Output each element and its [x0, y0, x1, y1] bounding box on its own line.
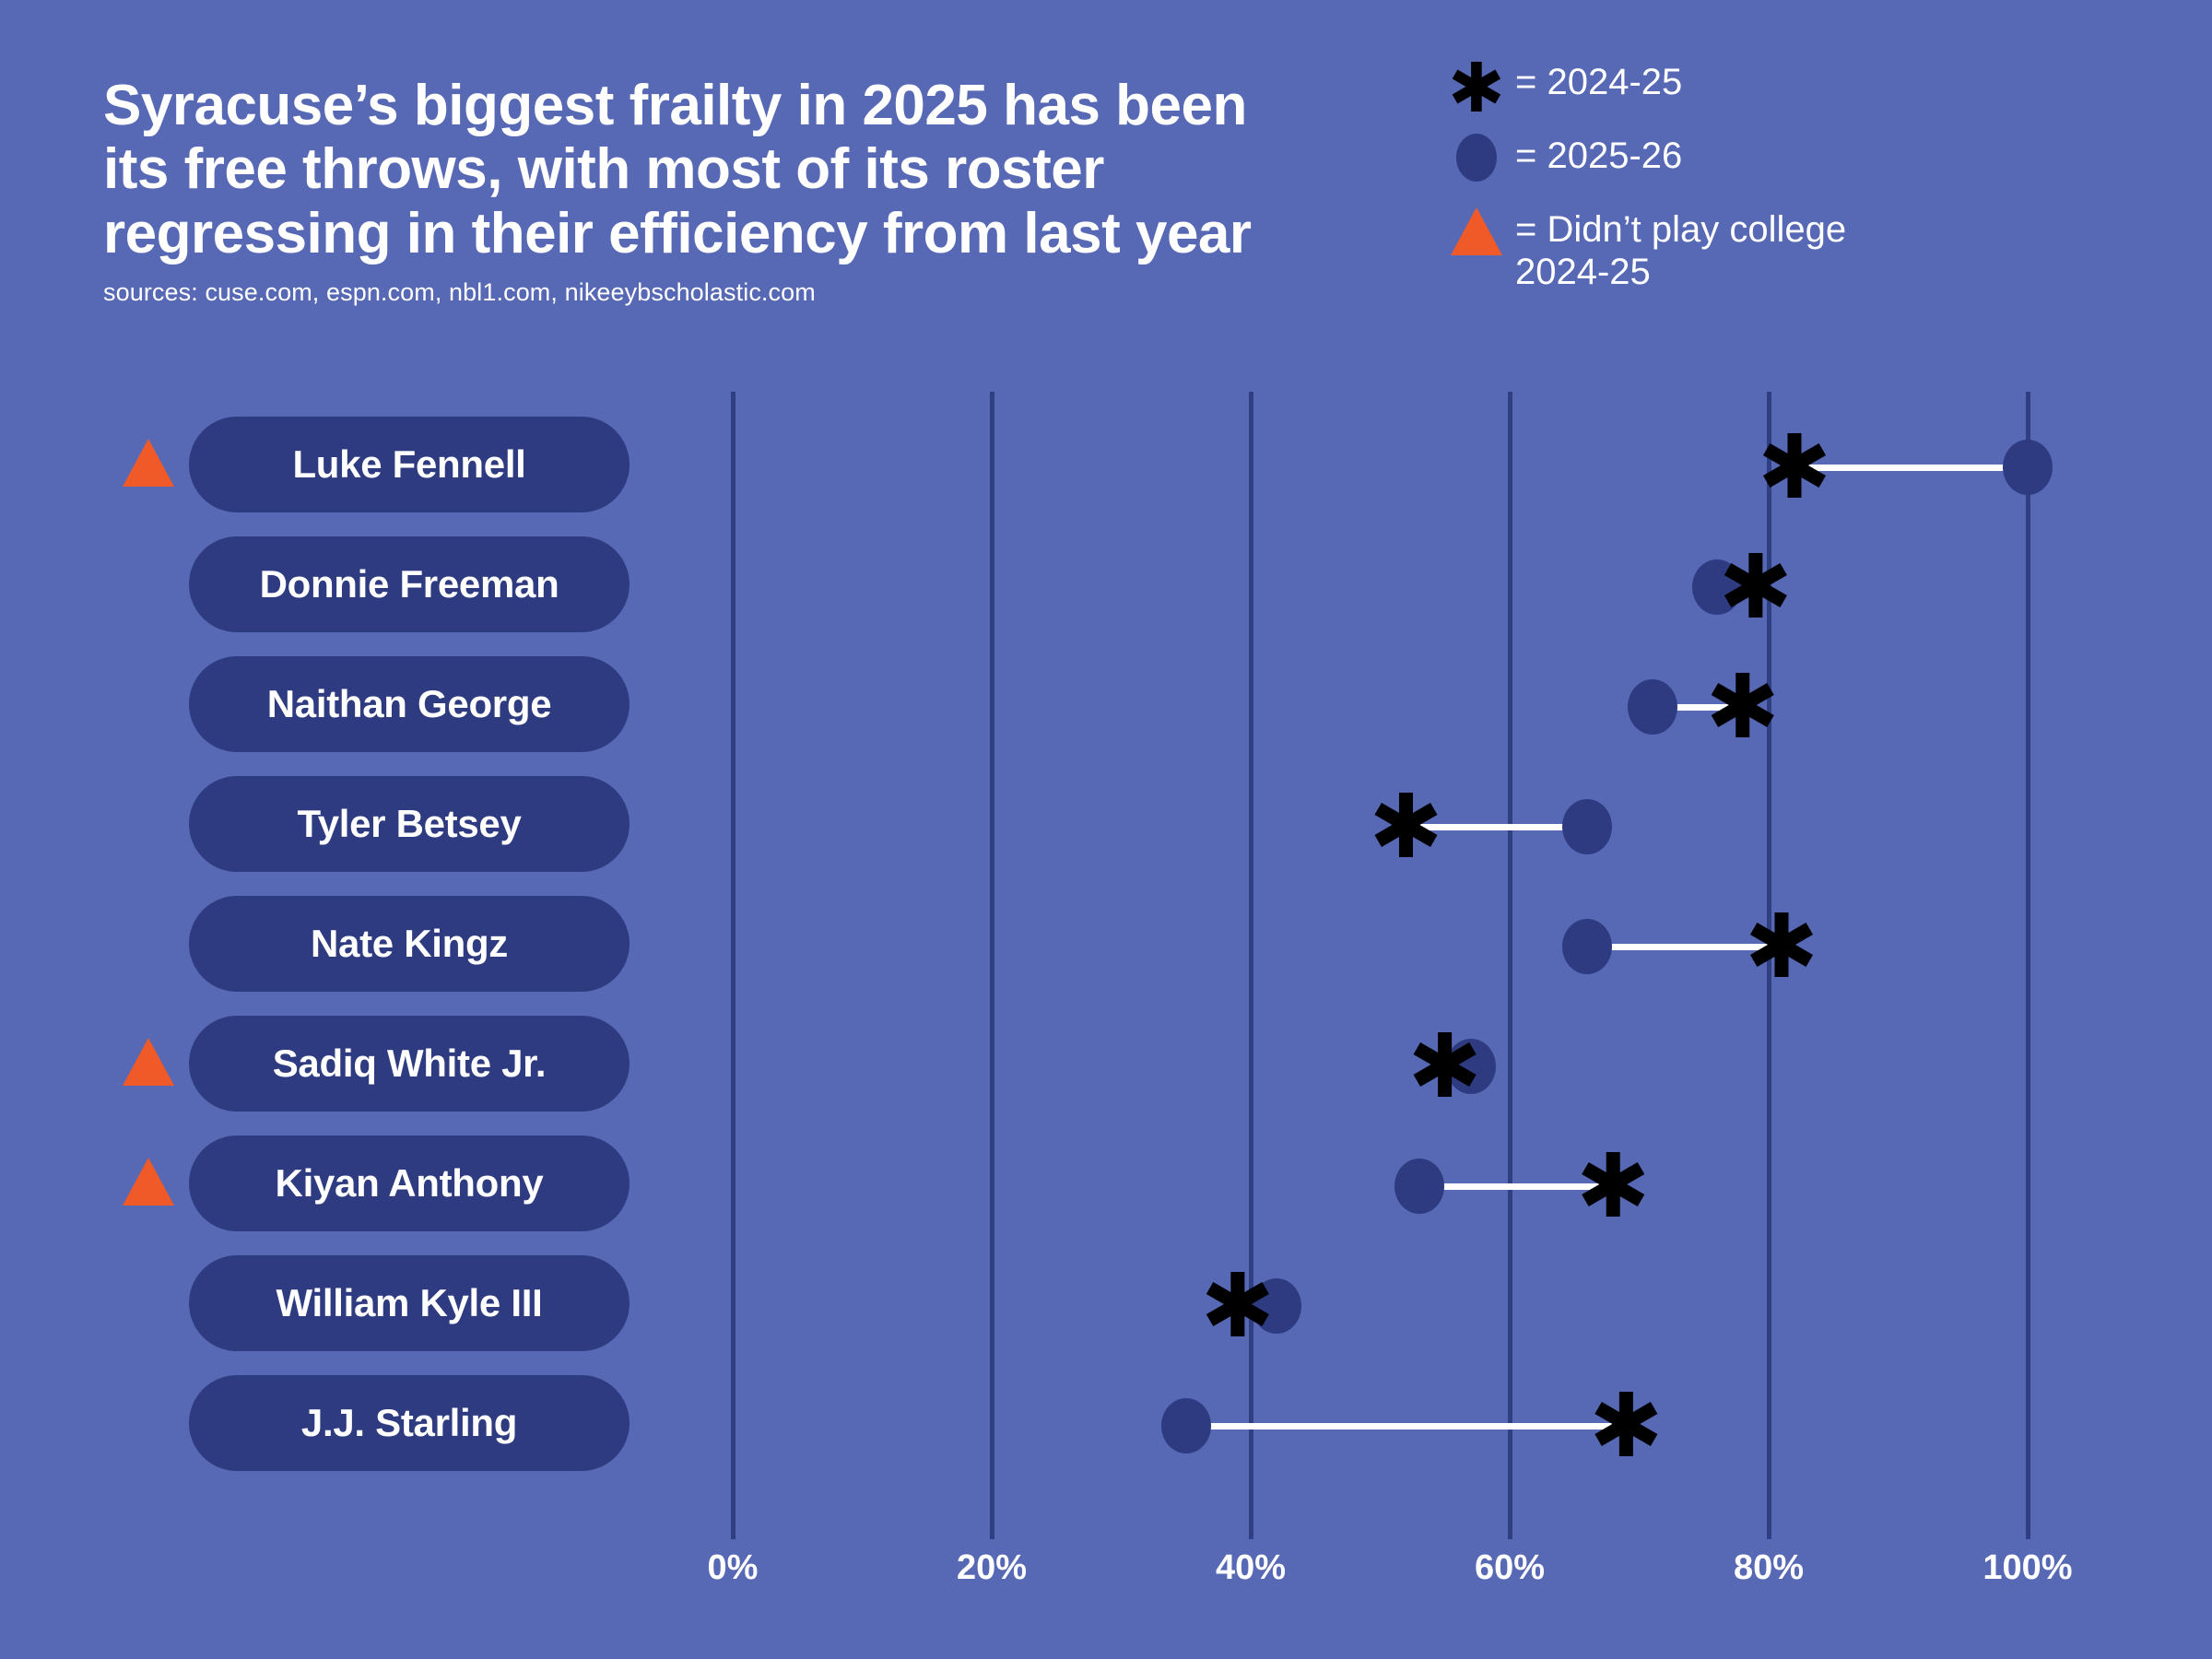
chart-row: Luke Fennell✱	[0, 406, 2212, 529]
player-name-pill[interactable]: Donnie Freeman	[189, 536, 629, 632]
x-axis-tick-label: 40%	[1216, 1548, 1286, 1588]
marker-2025-26[interactable]	[1562, 919, 1612, 974]
chart-header: Syracuse’s biggest frailty in 2025 has b…	[103, 74, 1320, 307]
page-title: Syracuse’s biggest frailty in 2025 has b…	[103, 74, 1320, 265]
player-name-label: Kiyan Anthony	[276, 1161, 544, 1206]
chart-row: Kiyan Anthony✱	[0, 1124, 2212, 1248]
chart-row: J.J. Starling✱	[0, 1364, 2212, 1488]
player-name-label: William Kyle III	[276, 1281, 543, 1325]
chart-row: Naithan George✱	[0, 645, 2212, 769]
x-axis-tick-label: 80%	[1734, 1548, 1804, 1588]
player-name-pill[interactable]: Kiyan Anthony	[189, 1135, 629, 1231]
asterisk-icon: ✱	[1438, 57, 1515, 111]
triangle-icon	[1438, 205, 1515, 258]
chart-legend: ✱ = 2024-25 = 2025-26 = Didn’t play coll…	[1438, 57, 2138, 313]
chart-row: Tyler Betsey✱	[0, 765, 2212, 888]
legend-item-2024-25: ✱ = 2024-25	[1438, 57, 2138, 111]
legend-item-label: = 2024-25	[1515, 57, 1682, 103]
marker-2025-26[interactable]	[2003, 440, 2053, 495]
marker-2025-26[interactable]	[1562, 799, 1612, 854]
player-name-label: Donnie Freeman	[260, 562, 559, 606]
player-name-pill[interactable]: Luke Fennell	[189, 417, 629, 512]
marker-2025-26[interactable]	[1161, 1398, 1211, 1453]
player-name-label: Nate Kingz	[311, 922, 508, 966]
chart-row: Nate Kingz✱	[0, 885, 2212, 1008]
player-name-label: Luke Fennell	[292, 442, 525, 487]
player-name-pill[interactable]: Sadiq White Jr.	[189, 1016, 629, 1112]
player-name-pill[interactable]: Tyler Betsey	[189, 776, 629, 872]
chart-row: Sadiq White Jr.✱	[0, 1005, 2212, 1128]
x-axis-tick-label: 60%	[1475, 1548, 1545, 1588]
player-name-pill[interactable]: William Kyle III	[189, 1255, 629, 1351]
player-name-label: Tyler Betsey	[297, 802, 521, 846]
player-name-pill[interactable]: Nate Kingz	[189, 896, 629, 992]
triangle-icon	[123, 1038, 174, 1086]
player-name-label: Naithan George	[267, 682, 552, 726]
marker-2025-26[interactable]	[1628, 679, 1677, 735]
triangle-icon	[123, 1158, 174, 1206]
legend-item-label: = Didn’t play college 2024-25	[1515, 205, 1846, 293]
triangle-icon	[123, 439, 174, 487]
legend-item-no-college: = Didn’t play college 2024-25	[1438, 205, 2138, 293]
x-axis-tick-label: 0%	[708, 1548, 759, 1588]
chart-row: Donnie Freeman✱	[0, 525, 2212, 649]
x-axis-tick-label: 20%	[957, 1548, 1027, 1588]
legend-item-2025-26: = 2025-26	[1438, 131, 2138, 184]
player-name-pill[interactable]: J.J. Starling	[189, 1375, 629, 1471]
circle-icon	[1438, 131, 1515, 184]
marker-2025-26[interactable]	[1394, 1159, 1444, 1214]
chart-row: William Kyle III✱	[0, 1244, 2212, 1368]
connector-line	[1186, 1423, 1627, 1430]
sources-line: sources: cuse.com, espn.com, nbl1.com, n…	[103, 278, 1320, 307]
player-name-pill[interactable]: Naithan George	[189, 656, 629, 752]
x-axis-tick-label: 100%	[1983, 1548, 2072, 1588]
legend-item-label: = 2025-26	[1515, 131, 1682, 177]
player-name-label: Sadiq White Jr.	[273, 1041, 547, 1086]
player-name-label: J.J. Starling	[301, 1401, 517, 1445]
